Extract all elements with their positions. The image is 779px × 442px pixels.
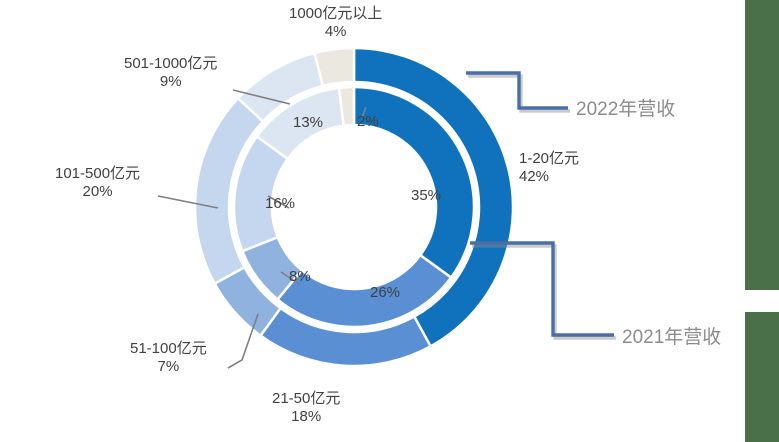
inner-label-1: 26% (370, 284, 400, 301)
inner-label-3: 16% (265, 195, 295, 212)
outer-label-3: 101-500亿元 20% (55, 165, 140, 200)
outer-label-4: 501-1000亿元 9% (124, 55, 217, 90)
outer-label-3-percent: 20% (55, 183, 140, 201)
outer-label-1: 21-50亿元 18% (272, 390, 340, 425)
edge-decoration-bar-top (745, 0, 779, 290)
chart-canvas: 1-20亿元 42% 21-50亿元 18% 51-100亿元 7% 101-5… (0, 0, 779, 442)
outer-label-4-category: 501-1000亿元 (124, 55, 217, 73)
inner-label-2: 8% (289, 268, 311, 285)
outer-label-1-category: 21-50亿元 (272, 390, 340, 408)
inner-label-5: 2% (357, 113, 379, 130)
inner-label-0: 35% (411, 187, 441, 204)
outer-label-2-category: 51-100亿元 (130, 340, 207, 358)
outer-ring-slice-5[interactable] (314, 48, 354, 86)
double-donut-chart (0, 0, 779, 442)
inner-label-4: 13% (293, 114, 323, 131)
outer-label-2-percent: 7% (130, 358, 207, 376)
outer-label-4-percent: 9% (124, 73, 217, 91)
outer-label-0-percent: 42% (519, 168, 579, 186)
callout-connector-2022 (466, 73, 568, 108)
outer-label-0-category: 1-20亿元 (519, 150, 579, 168)
outer-label-2: 51-100亿元 7% (130, 340, 207, 375)
outer-label-5-category: 1000亿元以上 (289, 5, 382, 23)
outer-label-5: 1000亿元以上 4% (289, 5, 382, 40)
outer-label-1-percent: 18% (272, 408, 340, 426)
outer-label-3-category: 101-500亿元 (55, 165, 140, 183)
series-callout-2021: 2021年营收 (622, 322, 721, 349)
outer-label-5-percent: 4% (289, 23, 382, 41)
series-callout-2022: 2022年营收 (576, 94, 675, 121)
edge-decoration-bar-bottom (745, 312, 779, 442)
outer-label-0: 1-20亿元 42% (519, 150, 579, 185)
